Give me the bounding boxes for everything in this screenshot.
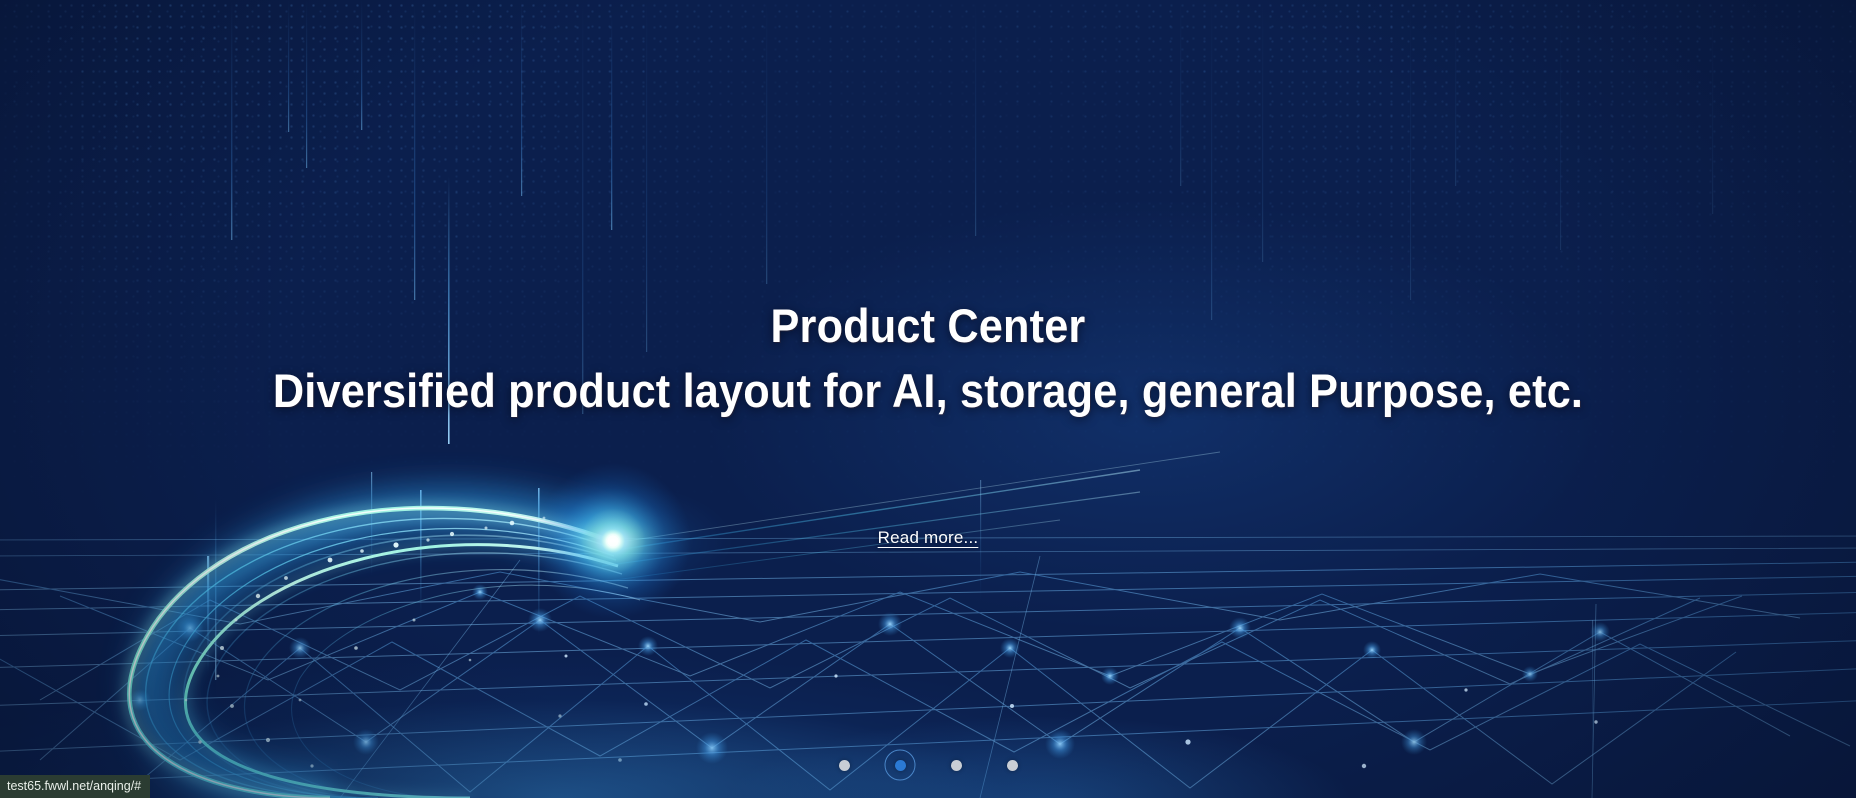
carousel-dot-1[interactable] (816, 748, 872, 782)
page-title: Product Center (74, 300, 1782, 353)
hero-subtitle: Diversified product layout for AI, stora… (74, 365, 1782, 418)
read-more-container: Read more... (0, 528, 1856, 548)
carousel-pagination (0, 748, 1856, 782)
carousel-dot-3[interactable] (928, 748, 984, 782)
carousel-dot-icon (951, 760, 962, 771)
carousel-dot-2[interactable] (872, 748, 928, 782)
browser-status-bar: test65.fwwl.net/anqing/# (0, 775, 150, 798)
read-more-link[interactable]: Read more... (878, 528, 979, 548)
carousel-dot-icon (1007, 760, 1018, 771)
carousel-dot-icon (839, 760, 850, 771)
carousel-dot-4[interactable] (984, 748, 1040, 782)
carousel-dot-icon-active (895, 760, 906, 771)
hero-copy: Product Center Diversified product layou… (0, 300, 1856, 417)
hero-banner: Product Center Diversified product layou… (0, 0, 1856, 798)
